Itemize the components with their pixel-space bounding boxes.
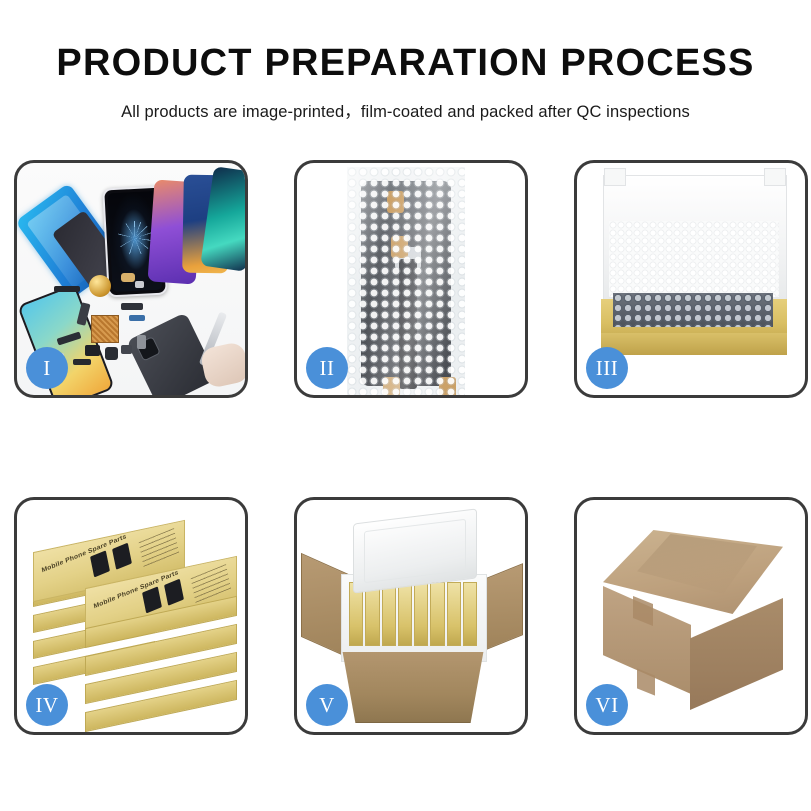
bubble-wrapped-contents [613,293,773,327]
speaker-module-icon [89,275,111,297]
component-part [129,315,145,321]
box-print-screen-image [112,543,132,570]
step-badge-1: I [26,347,68,389]
process-steps-grid: I II [14,160,797,735]
carton-right-face [690,598,783,710]
step-badge-4: IV [26,684,68,726]
step-card-2[interactable]: II [294,160,528,398]
component-part [121,345,132,354]
box-print-screen-image [90,550,110,577]
box-print-spec-lines [139,528,180,569]
gold-box [447,582,461,646]
page-title: PRODUCT PREPARATION PROCESS [0,44,811,84]
gold-box [414,582,428,646]
step-card-5[interactable]: V [294,497,528,735]
gold-box [430,582,444,646]
step-card-1[interactable]: I [14,160,248,398]
component-part [54,286,80,292]
page-subtitle: All products are image-printed，film-coat… [0,98,811,122]
component-part [135,281,144,288]
step-badge-6: VI [586,684,628,726]
step-badge-2: II [306,347,348,389]
box-print-screen-image [142,586,162,613]
gold-box [382,582,396,646]
header: PRODUCT PREPARATION PROCESS All products… [0,0,811,122]
gold-box [463,582,477,646]
component-part [105,347,118,360]
step-badge-3: III [586,347,628,389]
gold-box-front [601,333,787,355]
component-part [85,345,100,356]
step-card-4[interactable]: Mobile Phone Spare Parts Mobile Phone Sp… [14,497,248,735]
step-badge-5: V [306,684,348,726]
component-part [121,303,143,310]
plastic-sheen [347,167,465,395]
bubble-wrap-bag [347,167,465,395]
product-preparation-infographic: PRODUCT PREPARATION PROCESS All products… [0,0,811,811]
component-part [137,335,146,349]
component-part [121,273,135,282]
foam-insert [609,221,779,297]
component-part [73,359,91,365]
box-print-screen-image [164,579,184,606]
carton-front-panel [333,652,493,723]
gold-box [398,582,412,646]
step-card-3[interactable]: III [574,160,808,398]
ic-chip-icon [91,315,119,343]
step-card-6[interactable]: VI [574,497,808,735]
